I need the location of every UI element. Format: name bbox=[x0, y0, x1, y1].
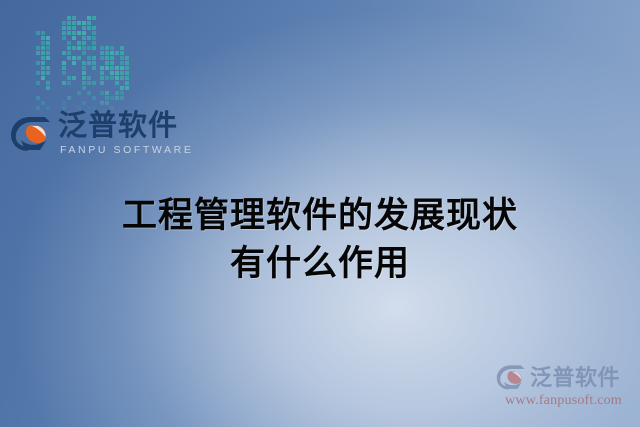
pixel-cell bbox=[82, 101, 86, 105]
page-title-line-2: 有什么作用 bbox=[0, 240, 640, 288]
pixel-cell bbox=[82, 46, 86, 50]
pixel-cell bbox=[87, 56, 91, 60]
pixel-cell bbox=[36, 66, 40, 70]
pixel-cell bbox=[72, 46, 76, 50]
pixel-cell bbox=[62, 46, 66, 50]
watermark-row: 泛普软件 bbox=[496, 364, 634, 391]
pixel-cell bbox=[36, 81, 40, 85]
pixel-cell bbox=[92, 76, 96, 80]
pixel-cell bbox=[120, 76, 124, 80]
pixel-cell bbox=[110, 61, 114, 65]
pixel-cell bbox=[36, 51, 40, 55]
pixel-cell bbox=[36, 71, 40, 75]
pixel-cell bbox=[67, 21, 71, 25]
pixel-cell bbox=[72, 56, 76, 60]
pixel-cell bbox=[92, 71, 96, 75]
pixel-cell bbox=[110, 96, 114, 100]
pixel-cell bbox=[100, 66, 104, 70]
pixel-cell bbox=[125, 101, 129, 105]
pixel-cell bbox=[67, 86, 71, 90]
pixel-cell bbox=[72, 91, 76, 95]
pixel-cell bbox=[67, 41, 71, 45]
pixel-cell bbox=[100, 56, 104, 60]
pixel-building-left bbox=[36, 31, 50, 120]
pixel-cell bbox=[67, 46, 71, 50]
pixel-cell bbox=[46, 86, 50, 90]
pixel-building-right bbox=[100, 46, 129, 120]
pixel-cell bbox=[77, 61, 81, 65]
pixel-cell bbox=[72, 76, 76, 80]
pixel-cell bbox=[72, 61, 76, 65]
pixel-cell bbox=[46, 51, 50, 55]
pixel-cell bbox=[92, 86, 96, 90]
pixel-cell bbox=[77, 96, 81, 100]
pixel-cell bbox=[87, 101, 91, 105]
pixel-cell bbox=[36, 86, 40, 90]
pixel-cell bbox=[41, 46, 45, 50]
pixel-cell bbox=[82, 56, 86, 60]
pixel-cell bbox=[87, 41, 91, 45]
fanpu-logo-mark-icon bbox=[10, 115, 52, 153]
pixel-cell bbox=[92, 66, 96, 70]
pixel-cell bbox=[62, 86, 66, 90]
pixel-cell bbox=[77, 66, 81, 70]
pixel-cell bbox=[100, 91, 104, 95]
pixel-cell bbox=[46, 36, 50, 40]
pixel-cell bbox=[82, 61, 86, 65]
pixel-cell bbox=[92, 21, 96, 25]
pixel-cell bbox=[100, 101, 104, 105]
pixel-cell bbox=[92, 101, 96, 105]
pixel-cell bbox=[82, 81, 86, 85]
pixel-cell bbox=[87, 66, 91, 70]
pixel-cell bbox=[62, 81, 66, 85]
pixel-cell bbox=[41, 31, 45, 35]
pixel-cell bbox=[72, 81, 76, 85]
pixel-cell bbox=[41, 106, 45, 110]
pixel-cell bbox=[46, 106, 50, 110]
pixel-cell bbox=[72, 41, 76, 45]
pixel-buildings-icon bbox=[36, 16, 132, 120]
pixel-cell bbox=[120, 101, 124, 105]
pixel-cell bbox=[41, 41, 45, 45]
pixel-cell bbox=[41, 96, 45, 100]
pixel-cell bbox=[36, 31, 40, 35]
pixel-cell bbox=[72, 31, 76, 35]
pixel-cell bbox=[120, 56, 124, 60]
pixel-cell bbox=[41, 71, 45, 75]
pixel-cell bbox=[120, 51, 124, 55]
pixel-cell bbox=[115, 56, 119, 60]
page-title-line-1: 工程管理软件的发展现状 bbox=[0, 192, 640, 240]
pixel-cell bbox=[105, 91, 109, 95]
pixel-cell bbox=[46, 41, 50, 45]
pixel-cell bbox=[82, 76, 86, 80]
pixel-cell bbox=[115, 76, 119, 80]
pixel-cell bbox=[72, 26, 76, 30]
pixel-cell bbox=[77, 46, 81, 50]
pixel-cell bbox=[41, 86, 45, 90]
pixel-cell bbox=[125, 61, 129, 65]
pixel-cell bbox=[41, 36, 45, 40]
pixel-cell bbox=[115, 66, 119, 70]
pixel-cell bbox=[46, 66, 50, 70]
pixel-cell bbox=[41, 101, 45, 105]
pixel-cell bbox=[100, 71, 104, 75]
pixel-cell bbox=[77, 36, 81, 40]
pixel-cell bbox=[77, 56, 81, 60]
pixel-cell bbox=[82, 31, 86, 35]
pixel-cell bbox=[87, 26, 91, 30]
pixel-cell bbox=[125, 71, 129, 75]
brand-name-cn: 泛普软件 bbox=[58, 112, 193, 141]
pixel-cell bbox=[62, 56, 66, 60]
pixel-cell bbox=[41, 81, 45, 85]
pixel-cell bbox=[77, 26, 81, 30]
pixel-cell bbox=[67, 31, 71, 35]
pixel-cell bbox=[77, 16, 81, 20]
pixel-cell bbox=[82, 16, 86, 20]
pixel-cell bbox=[87, 36, 91, 40]
pixel-cell bbox=[77, 76, 81, 80]
pixel-cell bbox=[100, 81, 104, 85]
pixel-cell bbox=[100, 86, 104, 90]
pixel-cell bbox=[77, 41, 81, 45]
pixel-cell bbox=[62, 21, 66, 25]
pixel-cell bbox=[67, 101, 71, 105]
pixel-cell bbox=[87, 16, 91, 20]
pixel-cell bbox=[82, 91, 86, 95]
pixel-cell bbox=[82, 71, 86, 75]
pixel-cell bbox=[36, 106, 40, 110]
pixel-cell bbox=[110, 46, 114, 50]
watermark-name-cn: 泛普软件 bbox=[530, 367, 620, 389]
pixel-cell bbox=[67, 81, 71, 85]
pixel-cell bbox=[77, 91, 81, 95]
pixel-cell bbox=[62, 36, 66, 40]
pixel-cell bbox=[62, 51, 66, 55]
pixel-cell bbox=[125, 91, 129, 95]
pixel-cell bbox=[72, 66, 76, 70]
pixel-cell bbox=[120, 96, 124, 100]
pixel-cell bbox=[72, 101, 76, 105]
pixel-cell bbox=[120, 46, 124, 50]
pixel-cell bbox=[115, 71, 119, 75]
pixel-cell bbox=[120, 66, 124, 70]
pixel-cell bbox=[92, 31, 96, 35]
pixel-cell bbox=[105, 61, 109, 65]
pixel-cell bbox=[36, 76, 40, 80]
pixel-cell bbox=[67, 16, 71, 20]
pixel-cell bbox=[46, 46, 50, 50]
pixel-cell bbox=[82, 86, 86, 90]
pixel-cell bbox=[72, 36, 76, 40]
pixel-cell bbox=[115, 86, 119, 90]
pixel-cell bbox=[46, 71, 50, 75]
pixel-cell bbox=[115, 46, 119, 50]
pixel-cell bbox=[77, 21, 81, 25]
pixel-cell bbox=[67, 61, 71, 65]
pixel-cell bbox=[82, 41, 86, 45]
brand-logo: 泛普软件 FANPU SOFTWARE bbox=[10, 112, 193, 156]
pixel-cell bbox=[72, 51, 76, 55]
pixel-cell bbox=[92, 56, 96, 60]
pixel-cell bbox=[67, 26, 71, 30]
pixel-cell bbox=[41, 51, 45, 55]
pixel-cell bbox=[87, 31, 91, 35]
pixel-cell bbox=[62, 71, 66, 75]
pixel-cell bbox=[105, 76, 109, 80]
pixel-cell bbox=[46, 96, 50, 100]
pixel-cell bbox=[120, 81, 124, 85]
pixel-cell bbox=[87, 51, 91, 55]
pixel-cell bbox=[46, 56, 50, 60]
pixel-cell bbox=[105, 86, 109, 90]
pixel-cell bbox=[110, 81, 114, 85]
pixel-cell bbox=[62, 66, 66, 70]
pixel-cell bbox=[67, 96, 71, 100]
pixel-cell bbox=[62, 26, 66, 30]
pixel-cell bbox=[115, 96, 119, 100]
pixel-cell bbox=[46, 76, 50, 80]
pixel-cell bbox=[72, 86, 76, 90]
pixel-cell bbox=[62, 96, 66, 100]
pixel-cell bbox=[92, 41, 96, 45]
pixel-cell bbox=[62, 101, 66, 105]
pixel-cell bbox=[110, 86, 114, 90]
pixel-cell bbox=[46, 81, 50, 85]
pixel-cell bbox=[125, 56, 129, 60]
pixel-cell bbox=[125, 81, 129, 85]
pixel-cell bbox=[87, 96, 91, 100]
pixel-cell bbox=[105, 96, 109, 100]
pixel-cell bbox=[67, 76, 71, 80]
pixel-cell bbox=[92, 51, 96, 55]
pixel-cell bbox=[115, 91, 119, 95]
poster-canvas: 泛普软件 FANPU SOFTWARE 工程管理软件的发展现状 有什么作用 泛普… bbox=[0, 0, 640, 427]
pixel-cell bbox=[72, 16, 76, 20]
pixel-cell bbox=[87, 86, 91, 90]
pixel-cell bbox=[77, 101, 81, 105]
pixel-cell bbox=[46, 101, 50, 105]
pixel-cell bbox=[41, 56, 45, 60]
pixel-cell bbox=[82, 96, 86, 100]
pixel-cell bbox=[115, 61, 119, 65]
pixel-cell bbox=[110, 91, 114, 95]
pixel-cell bbox=[36, 46, 40, 50]
pixel-cell bbox=[77, 31, 81, 35]
pixel-cell bbox=[82, 26, 86, 30]
pixel-cell bbox=[110, 76, 114, 80]
pixel-cell bbox=[110, 51, 114, 55]
pixel-cell bbox=[92, 36, 96, 40]
pixel-cell bbox=[92, 81, 96, 85]
pixel-cell bbox=[72, 71, 76, 75]
pixel-cell bbox=[120, 86, 124, 90]
pixel-cell bbox=[72, 96, 76, 100]
pixel-cell bbox=[77, 86, 81, 90]
pixel-cell bbox=[125, 86, 129, 90]
pixel-cell bbox=[46, 61, 50, 65]
pixel-cell bbox=[105, 81, 109, 85]
pixel-cell bbox=[36, 41, 40, 45]
pixel-cell bbox=[105, 71, 109, 75]
pixel-cell bbox=[125, 51, 129, 55]
pixel-cell bbox=[87, 81, 91, 85]
pixel-building-middle bbox=[62, 16, 96, 120]
pixel-cell bbox=[62, 76, 66, 80]
pixel-cell bbox=[87, 21, 91, 25]
pixel-cell bbox=[100, 51, 104, 55]
pixel-cell bbox=[82, 51, 86, 55]
pixel-cell bbox=[110, 66, 114, 70]
pixel-cell bbox=[36, 36, 40, 40]
pixel-cell bbox=[115, 81, 119, 85]
pixel-cell bbox=[67, 91, 71, 95]
pixel-cell bbox=[92, 46, 96, 50]
pixel-cell bbox=[105, 56, 109, 60]
pixel-cell bbox=[62, 41, 66, 45]
pixel-cell bbox=[100, 96, 104, 100]
pixel-cell bbox=[77, 51, 81, 55]
pixel-cell bbox=[41, 61, 45, 65]
pixel-cell bbox=[62, 31, 66, 35]
pixel-cell bbox=[120, 61, 124, 65]
pixel-cell bbox=[125, 46, 129, 50]
pixel-cell bbox=[36, 61, 40, 65]
pixel-cell bbox=[105, 101, 109, 105]
pixel-cell bbox=[87, 76, 91, 80]
pixel-cell bbox=[92, 16, 96, 20]
pixel-cell bbox=[82, 21, 86, 25]
pixel-cell bbox=[62, 91, 66, 95]
pixel-cell bbox=[110, 101, 114, 105]
pixel-cell bbox=[125, 76, 129, 80]
pixel-cell bbox=[110, 56, 114, 60]
pixel-cell bbox=[87, 46, 91, 50]
watermark-url: www.fanpusoft.com bbox=[496, 393, 631, 409]
brand-logo-text: 泛普软件 FANPU SOFTWARE bbox=[58, 112, 193, 156]
pixel-cell bbox=[105, 51, 109, 55]
pixel-cell bbox=[41, 76, 45, 80]
pixel-cell bbox=[41, 66, 45, 70]
pixel-cell bbox=[87, 91, 91, 95]
pixel-cell bbox=[67, 51, 71, 55]
pixel-cell bbox=[100, 61, 104, 65]
pixel-cell bbox=[77, 71, 81, 75]
pixel-cell bbox=[105, 66, 109, 70]
pixel-cell bbox=[82, 36, 86, 40]
pixel-cell bbox=[82, 66, 86, 70]
pixel-cell bbox=[92, 26, 96, 30]
pixel-cell bbox=[36, 91, 40, 95]
pixel-cell bbox=[67, 66, 71, 70]
pixel-cell bbox=[87, 71, 91, 75]
pixel-cell bbox=[125, 96, 129, 100]
pixel-cell bbox=[46, 31, 50, 35]
pixel-cell bbox=[67, 56, 71, 60]
pixel-cell bbox=[36, 96, 40, 100]
pixel-cell bbox=[36, 101, 40, 105]
pixel-cell bbox=[115, 101, 119, 105]
pixel-cell bbox=[87, 61, 91, 65]
fanpu-watermark-mark-icon bbox=[496, 364, 526, 391]
pixel-cell bbox=[105, 46, 109, 50]
page-title: 工程管理软件的发展现状 有什么作用 bbox=[0, 192, 640, 288]
pixel-cell bbox=[100, 76, 104, 80]
pixel-cell bbox=[120, 71, 124, 75]
pixel-cell bbox=[120, 91, 124, 95]
pixel-cell bbox=[46, 91, 50, 95]
pixel-cell bbox=[110, 71, 114, 75]
pixel-cell bbox=[62, 16, 66, 20]
pixel-cell bbox=[92, 91, 96, 95]
pixel-cell bbox=[92, 96, 96, 100]
pixel-cell bbox=[77, 81, 81, 85]
watermark: 泛普软件 www.fanpusoft.com bbox=[496, 364, 634, 409]
pixel-cell bbox=[67, 36, 71, 40]
pixel-cell bbox=[100, 46, 104, 50]
pixel-cell bbox=[125, 66, 129, 70]
pixel-cell bbox=[62, 61, 66, 65]
brand-name-en: FANPU SOFTWARE bbox=[58, 145, 193, 156]
pixel-cell bbox=[41, 91, 45, 95]
pixel-cell bbox=[67, 71, 71, 75]
pixel-cell bbox=[36, 56, 40, 60]
pixel-cell bbox=[115, 51, 119, 55]
pixel-cell bbox=[92, 61, 96, 65]
pixel-cell bbox=[72, 21, 76, 25]
